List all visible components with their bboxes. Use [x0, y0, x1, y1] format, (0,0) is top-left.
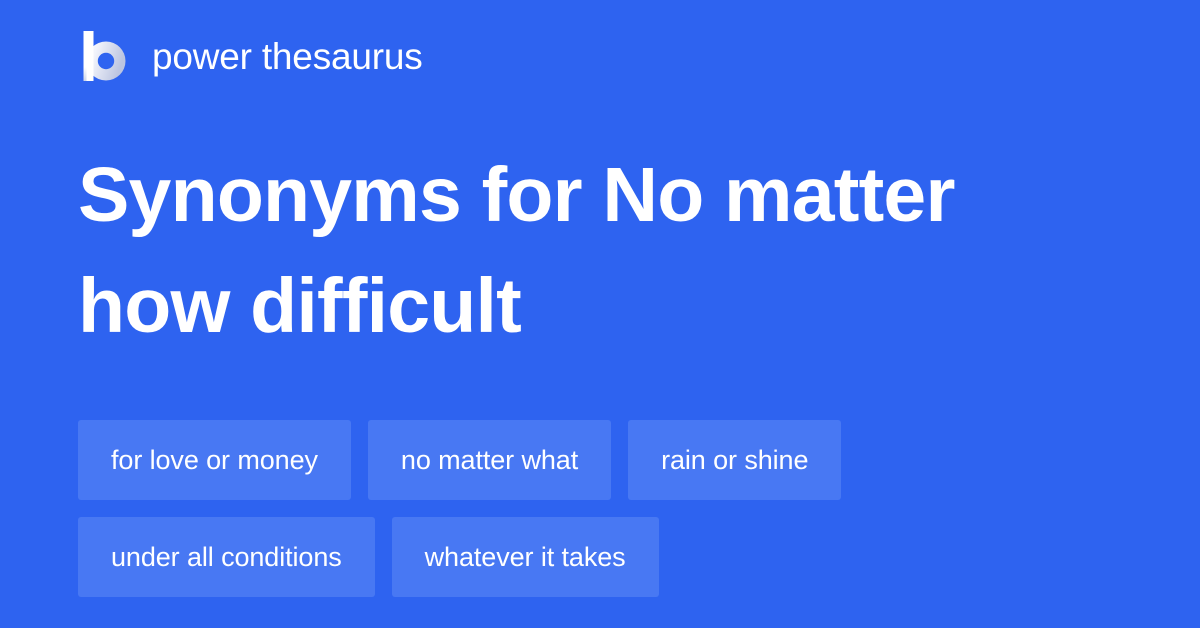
- synonym-chip[interactable]: rain or shine: [628, 420, 841, 500]
- power-thesaurus-b-logo-icon: [80, 31, 126, 81]
- brand-header[interactable]: power thesaurus: [80, 30, 423, 82]
- social-share-card: power thesaurus Synonyms for No matter h…: [0, 0, 1200, 628]
- synonym-chip[interactable]: under all conditions: [78, 517, 375, 597]
- synonym-chip[interactable]: no matter what: [368, 420, 611, 500]
- page-title: Synonyms for No matter how difficult: [78, 140, 1078, 362]
- synonym-chip-list: for love or money no matter what rain or…: [78, 420, 1138, 597]
- brand-name: power thesaurus: [152, 38, 423, 75]
- synonym-chip[interactable]: for love or money: [78, 420, 351, 500]
- synonym-chip[interactable]: whatever it takes: [392, 517, 659, 597]
